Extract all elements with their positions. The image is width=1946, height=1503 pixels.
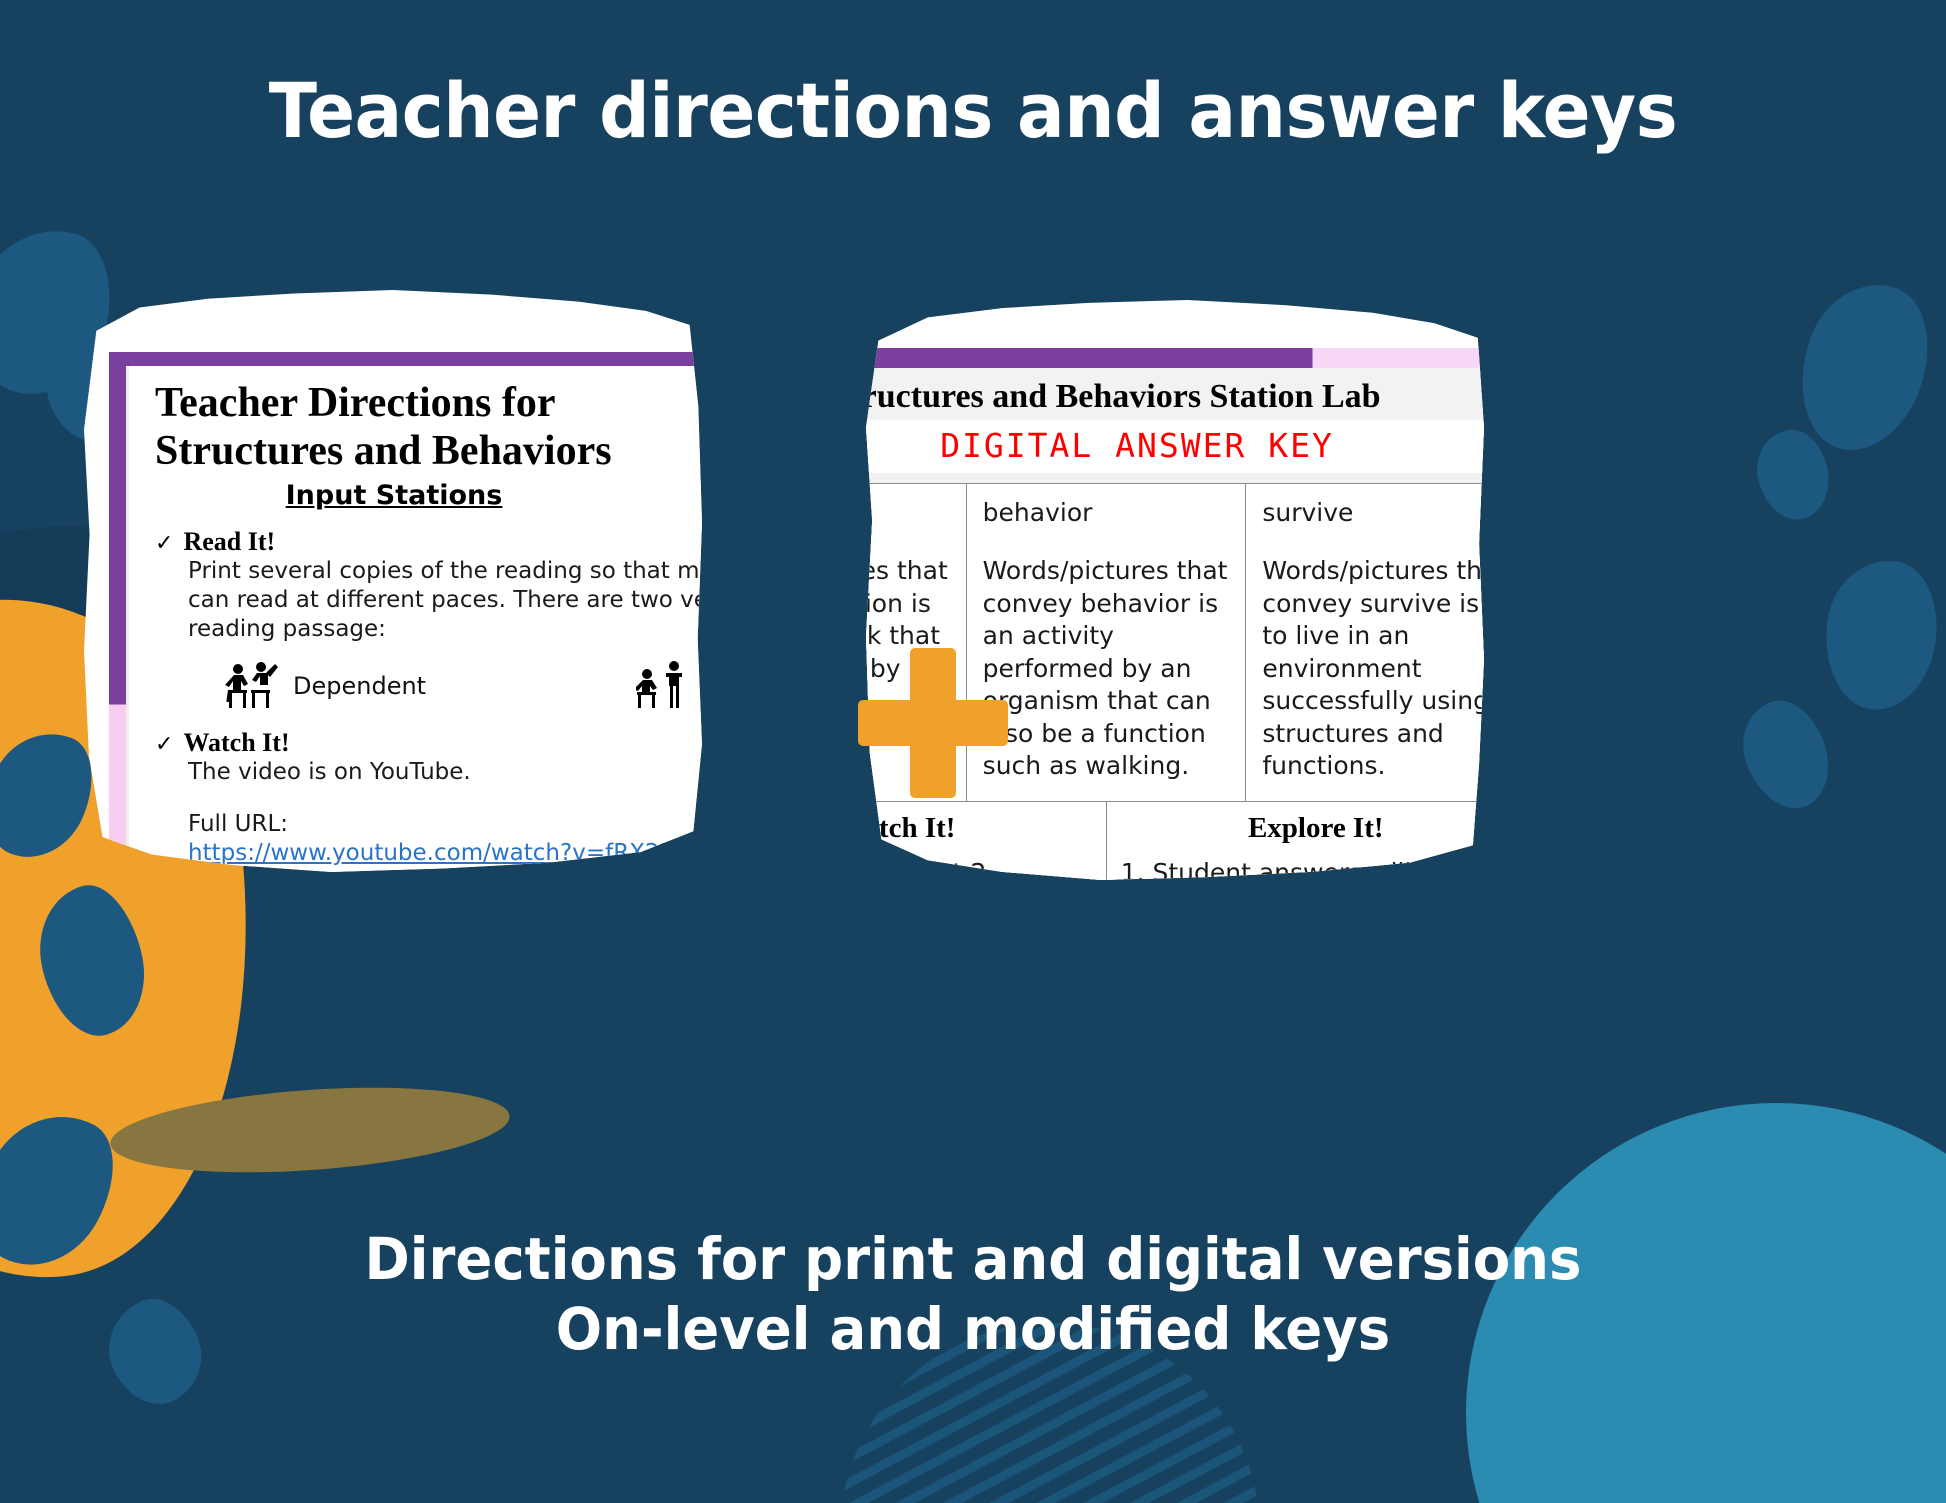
- section-body-line: reading passage:: [188, 615, 702, 644]
- checkmark-icon: ✓: [155, 531, 173, 556]
- section-heading-label: Watch It!: [183, 728, 289, 757]
- vocab-definition: Words/pictures that convey behavior is a…: [983, 555, 1230, 783]
- teacher-directions-document: Teacher Directions for Structures and Be…: [109, 352, 702, 872]
- two-students-seated-icon: [225, 660, 279, 712]
- section-read-it: ✓Read It! Print several copies of the re…: [155, 527, 702, 645]
- reading-version-icons: Dependent: [225, 660, 702, 712]
- blue-drop-shape: [25, 876, 158, 1046]
- page-subtitle: Directions for print and digital version…: [58, 1225, 1887, 1364]
- page-title: Teacher directions and answer keys: [68, 66, 1878, 155]
- youtube-url-link[interactable]: https://www.youtube.com/watch?v=fRX2JtKF…: [188, 840, 702, 866]
- card-shadow-shape: [108, 1076, 513, 1184]
- digital-answer-key-banner: DIGITAL ANSWER KEY: [866, 420, 1484, 473]
- section-body-line: Print several copies of the reading so t…: [188, 557, 702, 586]
- answer-cell-watch-it: Watch It! Students need to list 2 adapta…: [866, 802, 1107, 881]
- answer-key-banner: DIGITAL ANSWER KEY: [866, 420, 1484, 473]
- page-subtitle-line1: Directions for print and digital version…: [58, 1225, 1887, 1295]
- blue-drop-shape: [1749, 424, 1836, 527]
- answers-table: Watch It! Students need to list 2 adapta…: [866, 802, 1484, 881]
- answer-heading: Explore It!: [1123, 812, 1485, 845]
- section-heading-label: Read It!: [183, 527, 275, 556]
- vocab-definition: Words/pictures that convey survive is to…: [1262, 555, 1484, 783]
- vocab-term: behavior: [983, 498, 1230, 527]
- answer-list-item: Student answers will vary. Students shou…: [1153, 857, 1485, 881]
- section-body-line: can read at different paces. There are t…: [188, 586, 702, 615]
- section-watch-it: ✓Watch It! The video is on YouTube. Full…: [155, 728, 702, 868]
- modified-version: Modified: [636, 660, 702, 712]
- blue-drop-shape: [1781, 268, 1946, 467]
- doc-title-line2: Structures and Behaviors: [155, 428, 702, 476]
- answer-key-title: Structures and Behaviors Station Lab: [866, 368, 1484, 420]
- vocab-cell-behavior: behavior Words/pictures that convey beha…: [967, 484, 1247, 801]
- teacher-directions-card[interactable]: Teacher Directions for Structures and Be…: [84, 290, 702, 872]
- page-subtitle-line2: On-level and modified keys: [58, 1295, 1887, 1365]
- blue-drop-shape: [1730, 690, 1843, 821]
- vocab-cell-survive: survive Words/pictures that convey survi…: [1246, 484, 1484, 801]
- dependent-label: Dependent: [293, 672, 426, 700]
- url-label: Full URL:: [188, 810, 702, 839]
- section-heading: ✓Watch It!: [155, 728, 702, 758]
- purple-pink-topbar: [866, 348, 1484, 368]
- doc-title-line1: Teacher Directions for: [155, 380, 702, 428]
- checkmark-icon: ✓: [155, 732, 173, 757]
- answer-body: Student answers will vary. Students shou…: [1123, 857, 1485, 881]
- vocab-term: survive: [1262, 498, 1484, 527]
- digital-answer-key-label: DIGITAL ANSWER KEY: [940, 426, 1334, 465]
- doc-subtitle: Input Stations: [155, 480, 702, 511]
- teacher-and-student-icon: [636, 660, 690, 712]
- answer-body: Students need to list 2 adaptations of t…: [866, 857, 1090, 881]
- section-body-line: The video is on YouTube.: [188, 758, 702, 787]
- slide-canvas: Teacher directions and answer keys Teach…: [0, 0, 1946, 1503]
- section-heading: ✓Read It!: [155, 527, 702, 557]
- blue-drop-shape: [1816, 553, 1946, 717]
- answer-key-document: Structures and Behaviors Station Lab: [866, 348, 1484, 880]
- plus-icon: [858, 648, 1008, 798]
- purple-pink-sidebar: [109, 366, 126, 872]
- dependent-version: Dependent: [225, 660, 426, 712]
- vocab-term: function: [866, 498, 950, 527]
- answer-heading: Watch It!: [866, 812, 1090, 845]
- sidebar-hairline: [126, 366, 129, 872]
- answer-cell-explore-it: Explore It! Student answers will vary. S…: [1107, 802, 1485, 881]
